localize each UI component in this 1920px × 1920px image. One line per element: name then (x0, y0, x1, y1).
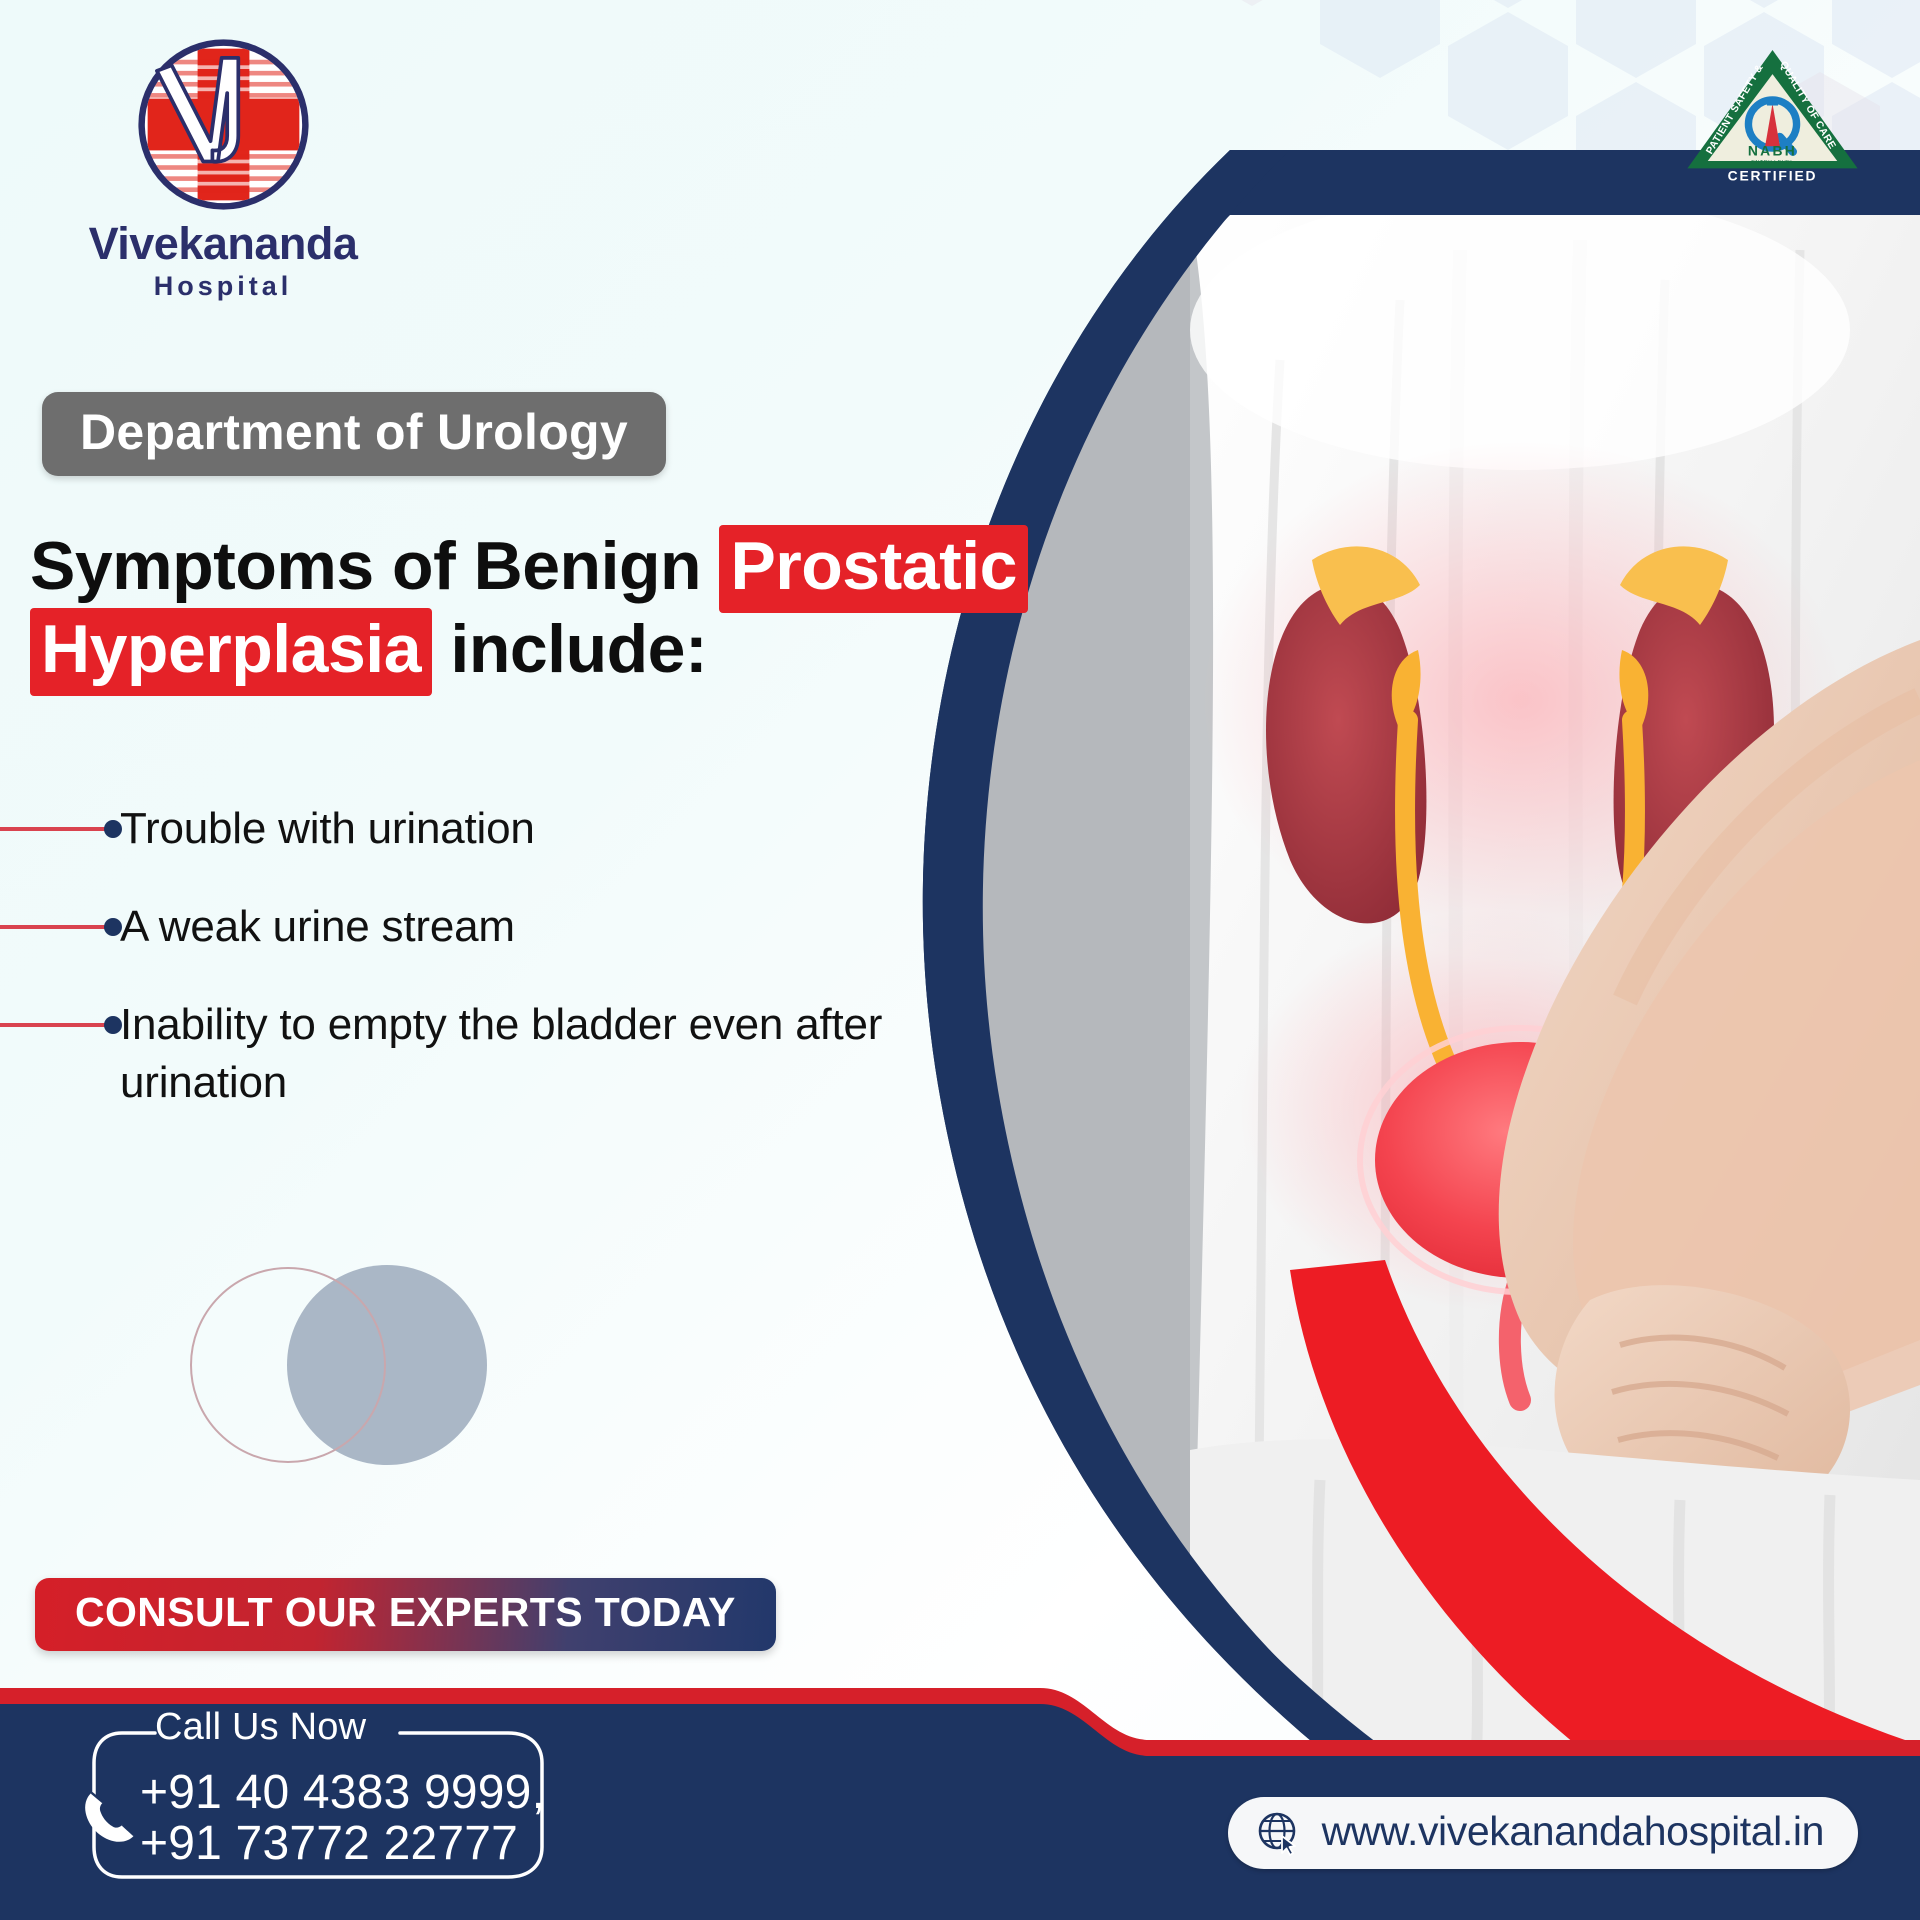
list-item: A weak urine stream (0, 898, 1020, 956)
bullet-line (0, 925, 106, 929)
nabh-certified-badge: PATIENT SAFETY & QUALITY OF CARE NABH EN… (1680, 42, 1865, 182)
brand-logo: Vivekananda Hospital (58, 32, 388, 300)
bullet-dot-icon (104, 1016, 122, 1034)
website-pill[interactable]: www.vivekanandahospital.in (1228, 1797, 1858, 1869)
list-item: Inability to empty the bladder even afte… (0, 996, 1020, 1112)
brand-name: Vivekananda (58, 221, 388, 266)
symptoms-list: Trouble with urination A weak urine stre… (0, 800, 1020, 1152)
bullet-line (0, 1023, 106, 1027)
list-item-label: Inability to empty the bladder even afte… (120, 996, 1020, 1112)
phone-numbers[interactable]: +91 40 4383 9999, +91 73772 22777 (140, 1768, 545, 1870)
bullet-dot-icon (104, 918, 122, 936)
phone-number-secondary: +91 73772 22777 (140, 1819, 545, 1870)
list-item-label: Trouble with urination (120, 800, 1020, 858)
poster-canvas: Vivekananda Hospital PATIENT SAFETY & QU… (0, 0, 1920, 1920)
bullet-marker (0, 996, 120, 1052)
headline-suffix: include: (432, 611, 707, 687)
phone-handset-icon (78, 1785, 140, 1847)
bullet-line (0, 827, 106, 831)
badge-sub-acronym: ENTRY LEVEL (1751, 160, 1794, 166)
list-item: Trouble with urination (0, 800, 1020, 858)
list-item-label: A weak urine stream (120, 898, 1020, 956)
badge-footer-text: CERTIFIED (1728, 167, 1818, 182)
bullet-dot-icon (104, 820, 122, 838)
call-us-label: Call Us Now (155, 1708, 366, 1746)
page-title: Symptoms of Benign Prostatic Hyperplasia… (30, 525, 1040, 691)
bullet-marker (0, 898, 120, 954)
website-url: www.vivekanandahospital.in (1322, 1811, 1824, 1855)
phone-number-primary: +91 40 4383 9999, (140, 1768, 545, 1819)
department-tag: Department of Urology (42, 392, 666, 476)
consult-cta-button[interactable]: CONSULT OUR EXPERTS TODAY (35, 1578, 776, 1651)
globe-cursor-icon (1254, 1808, 1304, 1858)
hospital-logo-icon (131, 32, 316, 217)
headline-prefix: Symptoms of Benign (30, 528, 719, 604)
bullet-marker (0, 800, 120, 856)
headline-highlight-prostatic: Prostatic (719, 525, 1028, 613)
badge-acronym: NABH (1748, 142, 1797, 158)
decorative-circle-outline (190, 1267, 386, 1463)
headline-highlight-hyperplasia: Hyperplasia (30, 608, 432, 696)
brand-subtitle: Hospital (58, 273, 388, 300)
